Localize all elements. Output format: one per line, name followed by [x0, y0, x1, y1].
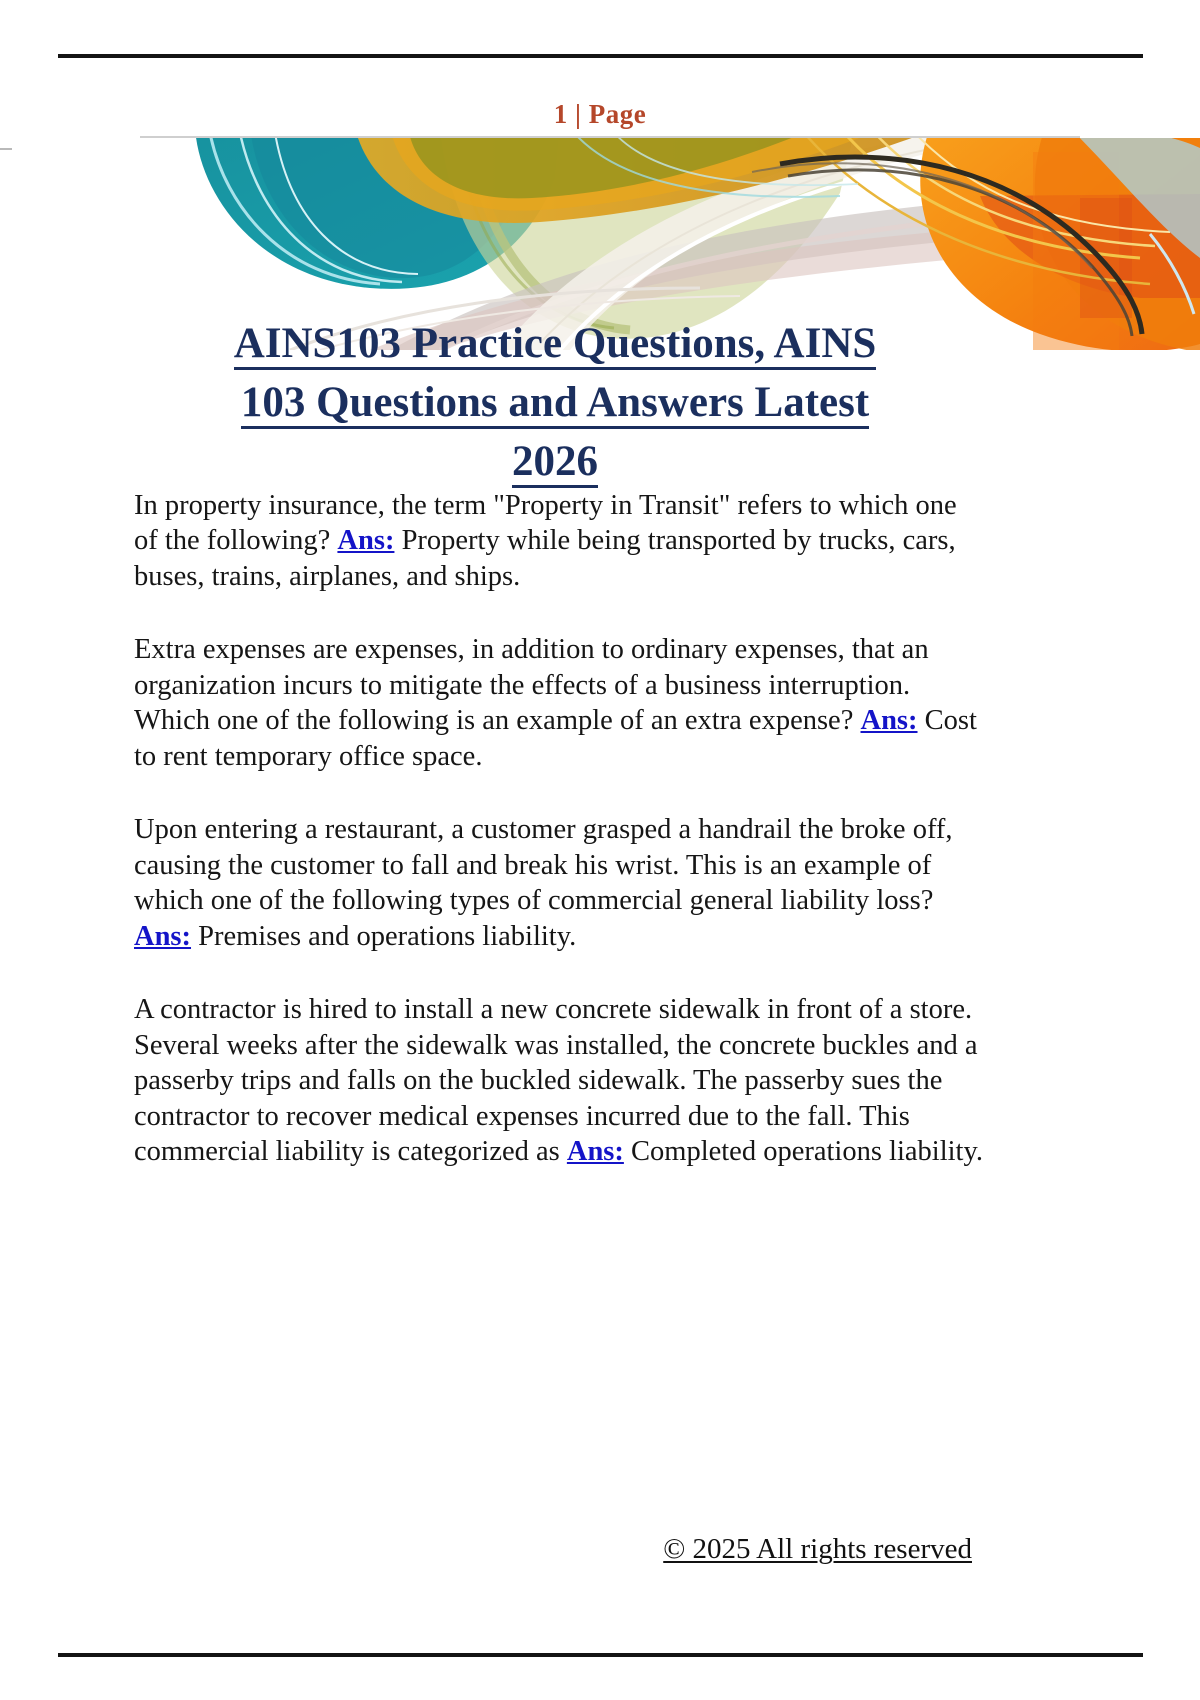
qa-item-2: Extra expenses are expenses, in addition…	[134, 632, 984, 774]
qa-item-1: In property insurance, the term "Propert…	[134, 488, 984, 594]
qa-item-4: A contractor is hired to install a new c…	[134, 992, 984, 1169]
answer-label-3: Ans:	[134, 921, 191, 952]
answer-label-2: Ans:	[861, 705, 918, 736]
answer-text-3: Premises and operations liability.	[198, 921, 576, 952]
answer-label-1: Ans:	[337, 525, 394, 556]
answer-text-4: Completed operations liability.	[631, 1136, 983, 1167]
title-line-3: 2026	[150, 432, 960, 491]
qa-item-3: Upon entering a restaurant, a customer g…	[134, 812, 984, 954]
title-line-2: 103 Questions and Answers Latest	[150, 373, 960, 432]
answer-label-4: Ans:	[567, 1136, 624, 1167]
qa-body: In property insurance, the term "Propert…	[134, 488, 984, 1170]
copyright-notice: © 2025 All rights reserved	[663, 1533, 972, 1566]
title-line-1: AINS103 Practice Questions, AINS	[150, 314, 960, 373]
page-title: AINS103 Practice Questions, AINS 103 Que…	[150, 314, 960, 492]
question-text-2: Extra expenses are expenses, in addition…	[134, 634, 929, 736]
bottom-rule	[58, 1653, 1143, 1657]
header-hairline-left	[0, 148, 12, 150]
question-text-3: Upon entering a restaurant, a customer g…	[134, 814, 953, 916]
page-number-header: 1 | Page	[0, 99, 1200, 130]
document-page: 1 | Page	[0, 0, 1200, 1700]
top-rule	[58, 54, 1143, 58]
